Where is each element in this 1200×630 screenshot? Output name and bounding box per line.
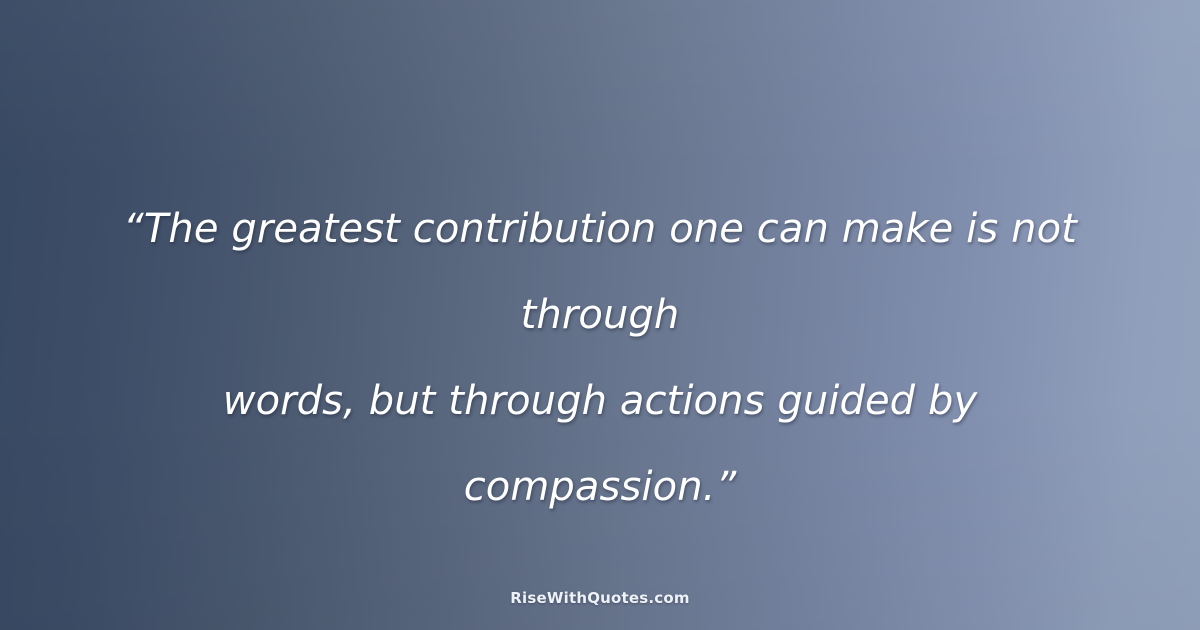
footer: RiseWithQuotes.com (0, 588, 1200, 607)
quote-text: “The greatest contribution one can make … (96, 186, 1104, 530)
site-credit: RiseWithQuotes.com (510, 589, 689, 607)
quote-block: “The greatest contribution one can make … (0, 186, 1200, 530)
quote-card: “The greatest contribution one can make … (0, 0, 1200, 630)
